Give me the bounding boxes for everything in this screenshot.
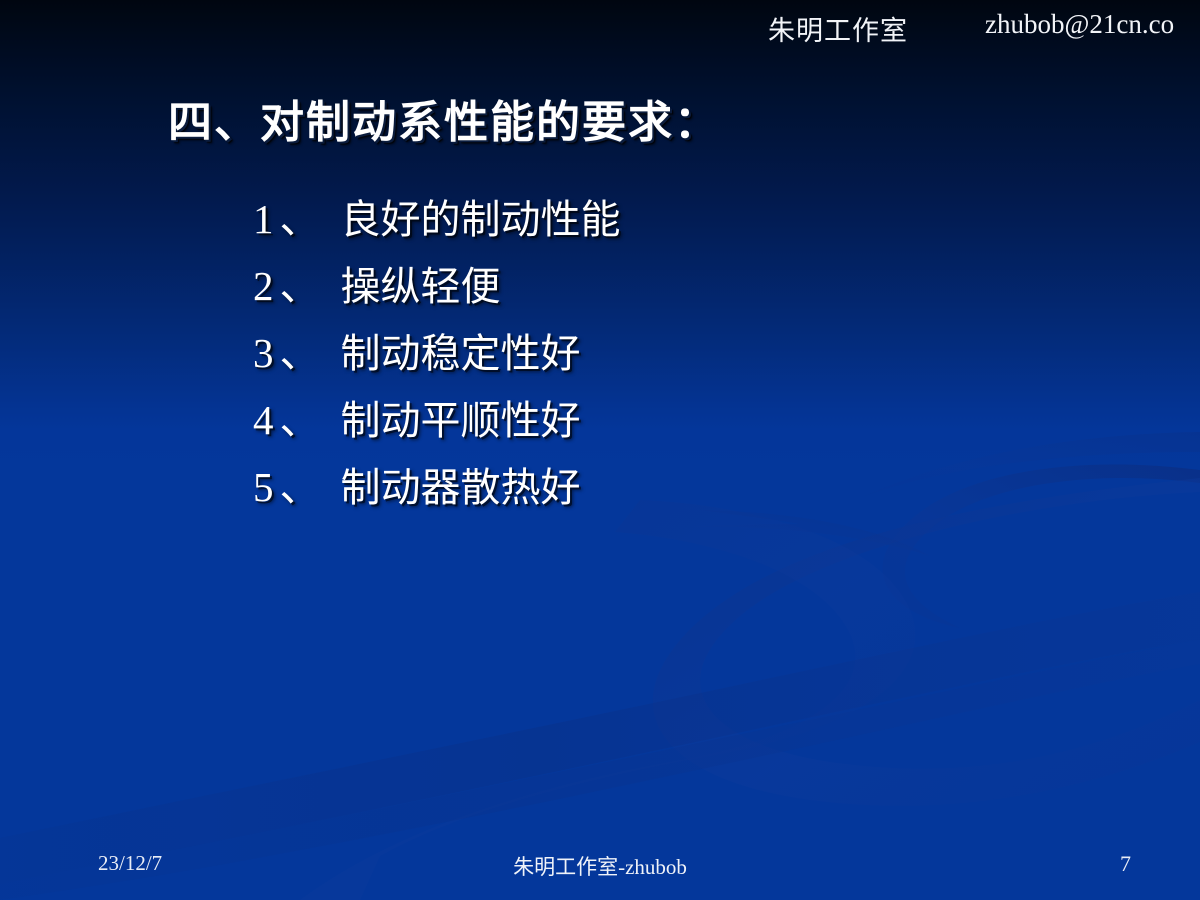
bullet-text: 制动平顺性好 <box>341 398 581 444</box>
slide-footer: 23/12/7 朱明工作室-zhubob 7 <box>0 848 1200 884</box>
bullet-list: 1、良好的制动性能 2、操纵轻便 3、制动稳定性好 4、制动平顺性好 5、制动器… <box>253 186 1033 521</box>
bullet-number: 5 <box>253 464 274 510</box>
bullet-item-4: 4、制动平顺性好 <box>253 387 1033 454</box>
bullet-number: 3 <box>253 330 274 376</box>
bullet-number: 2 <box>253 263 274 309</box>
footer-center-text: 朱明工作室-zhubob <box>0 851 1200 881</box>
bullet-text: 制动器散热好 <box>341 465 581 511</box>
bullet-text: 操纵轻便 <box>341 264 501 310</box>
bullet-number: 4 <box>253 397 274 443</box>
header-studio-name: 朱明工作室 <box>768 9 908 48</box>
bullet-text: 良好的制动性能 <box>341 197 621 243</box>
bullet-separator: 、 <box>274 330 341 376</box>
bullet-number: 1 <box>253 196 274 242</box>
bullet-separator: 、 <box>274 263 341 309</box>
bullet-item-2: 2、操纵轻便 <box>253 253 1033 320</box>
bullet-item-3: 3、制动稳定性好 <box>253 320 1033 387</box>
bullet-item-5: 5、制动器散热好 <box>253 454 1033 521</box>
presentation-slide: 朱明工作室 zhubob@21cn.co 四、对制动系性能的要求： 1、良好的制… <box>0 0 1200 900</box>
bullet-separator: 、 <box>274 196 341 242</box>
bullet-text: 制动稳定性好 <box>341 331 581 377</box>
footer-page-number: 7 <box>1120 851 1131 877</box>
slide-header: 朱明工作室 zhubob@21cn.co <box>0 0 1200 48</box>
slide-title: 四、对制动系性能的要求： <box>168 86 720 150</box>
bullet-separator: 、 <box>274 464 341 510</box>
header-email-address: zhubob@21cn.co <box>985 9 1174 40</box>
bullet-item-1: 1、良好的制动性能 <box>253 186 1033 253</box>
bullet-separator: 、 <box>274 397 341 443</box>
